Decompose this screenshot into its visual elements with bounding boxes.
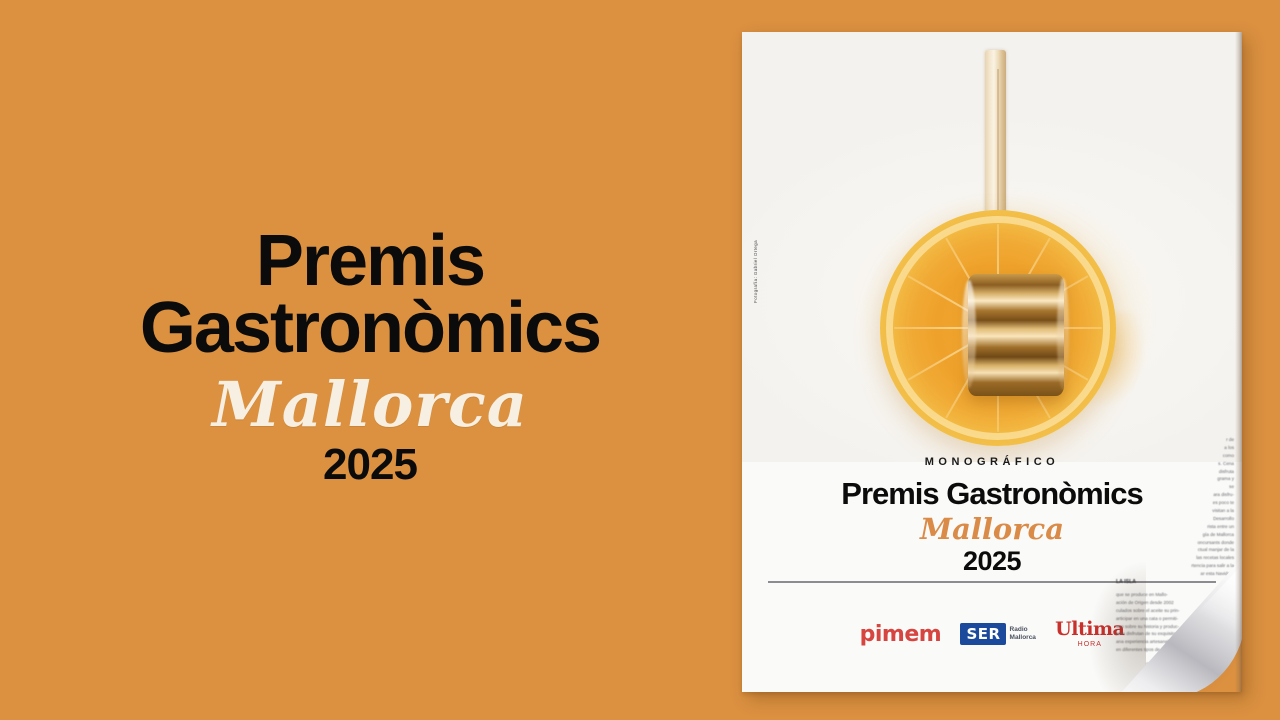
back-page-line: gía de Mallorca [1116,531,1234,539]
logo-pimem: pimem [860,622,942,647]
back-page-line: ara disfru- [1116,491,1234,499]
back-page-line: se [1116,483,1234,491]
back-page-line: rtencia para salir a la [1116,562,1234,570]
magazine-mockup: Fotografía: Gabriel Ortega MONOGRÁFICO P… [742,32,1242,692]
back-page-line: ar esta Navidad. [1116,570,1234,578]
back-page-line: grama y [1116,475,1234,483]
promo-headline-line2: Gastronòmics [0,295,740,362]
logo-ultima-hora: Ultima HORA [1055,620,1124,648]
back-page-line: s. Cena [1116,460,1234,468]
logo-ser-subtitle: Radio Mallorca [1010,626,1036,642]
promo-headline-line1: Premis [0,228,740,295]
logo-ser-sub-line1: Radio [1010,626,1028,633]
promo-canvas: Premis Gastronòmics Mallorca 2025 [0,0,1280,720]
back-page-line: r de [1116,436,1234,444]
back-page-line: rista entre un [1116,523,1234,531]
photo-credit: Fotografía: Gabriel Ortega [753,240,758,303]
back-page-line: Desarrollo [1116,515,1234,523]
logo-ultima-hora-subtitle: HORA [1055,641,1124,648]
cover-photograph: Fotografía: Gabriel Ortega [742,32,1242,462]
promo-title-block: Premis Gastronòmics Mallorca 2025 [0,228,740,490]
honey-dipper-head-icon [968,274,1064,396]
logo-ultima-hora-text: Ultima [1055,620,1124,639]
back-page-line: a los [1116,444,1234,452]
magazine-cover: Fotografía: Gabriel Ortega MONOGRÁFICO P… [742,32,1242,692]
magazine-spine [1235,32,1242,692]
promo-year: 2025 [0,440,740,490]
logo-ser-sub-line2: Mallorca [1010,634,1036,641]
back-page-line: es poco te [1116,499,1234,507]
logo-ser-mark: SER [960,623,1005,645]
back-page-line: como [1116,452,1234,460]
promo-script-mallorca: Mallorca [0,374,740,436]
logo-ser-radio-mallorca: SER Radio Mallorca [960,623,1035,645]
back-page-line: las recetas locales [1116,554,1234,562]
back-page-line: oncursants donde [1116,539,1234,547]
back-page-column: r dea loscomos. Cenadisfrutagrama yseara… [1116,436,1234,578]
back-page-line: visitan a la [1116,507,1234,515]
back-page-line: disfruta [1116,468,1234,476]
back-page-headline: LA ISLA [1116,578,1234,587]
back-page-line: ctual manjar de la [1116,546,1234,554]
logo-pimem-text: pimem [860,622,942,647]
